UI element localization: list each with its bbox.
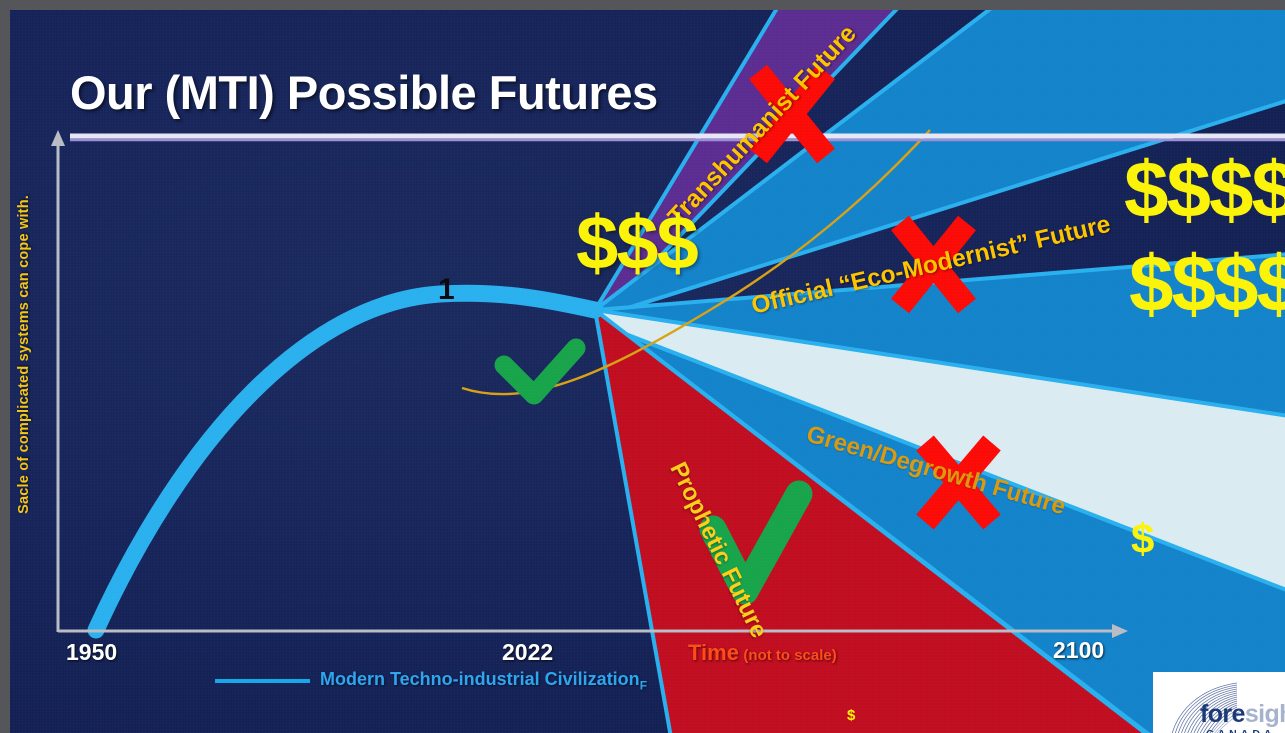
legend-label-mti: Modern Techno-industrial CivilizationF [320,669,647,693]
logo-wordmark: foresight [1200,702,1285,727]
legend-label-subscript: F [640,679,647,693]
x-axis-label: Time (not to scale) [688,640,837,666]
legend-swatch-mti [215,679,310,683]
x-axis-arrow [1112,624,1128,638]
slide-root: Our (MTI) Possible Futures Sacle of comp… [0,0,1285,733]
x-axis-label-main: Time [688,640,739,665]
money-eco-modernist-bottom: $$$$ [1129,238,1285,330]
curve-peak-marker: 1 [438,273,455,307]
wedge-green-degrowth [595,310,1285,596]
x-tick-2100: 2100 [1053,637,1104,664]
logo-subtitle: CANADA [1206,728,1276,733]
check-mti-descent [504,348,576,395]
wedge-prophetic [595,310,1158,733]
legend: Modern Techno-industrial CivilizationF [215,669,647,693]
x-axis-label-note: (not to scale) [743,647,836,664]
legend-label-text: Modern Techno-industrial Civilization [320,669,640,689]
foresight-canada-logo: foresight CANADA [1153,672,1285,733]
money-green-degrowth: $ [1131,515,1154,563]
money-transhumanist: $$$ [576,200,697,287]
label-green-degrowth-future: Green/Degrowth Future [803,421,1068,522]
x-tick-1950: 1950 [66,639,117,666]
slide-canvas: Our (MTI) Possible Futures Sacle of comp… [10,10,1285,733]
money-prophetic: $ [847,707,855,724]
y-axis-arrow [51,130,65,146]
label-eco-modernist-future: Official “Eco-Modernist” Future [749,211,1113,321]
x-tick-2022: 2022 [502,639,553,666]
logo-word-fore: fore [1200,700,1245,728]
mti-curve [96,293,595,630]
y-axis-label: Sacle of complicated systems can cope wi… [16,195,40,514]
logo-word-sight: sight [1245,700,1285,728]
label-prophetic-future: Prophetic Future [663,458,772,643]
page-title: Our (MTI) Possible Futures [70,65,658,120]
money-eco-modernist-top: $$$$ [1124,144,1285,236]
